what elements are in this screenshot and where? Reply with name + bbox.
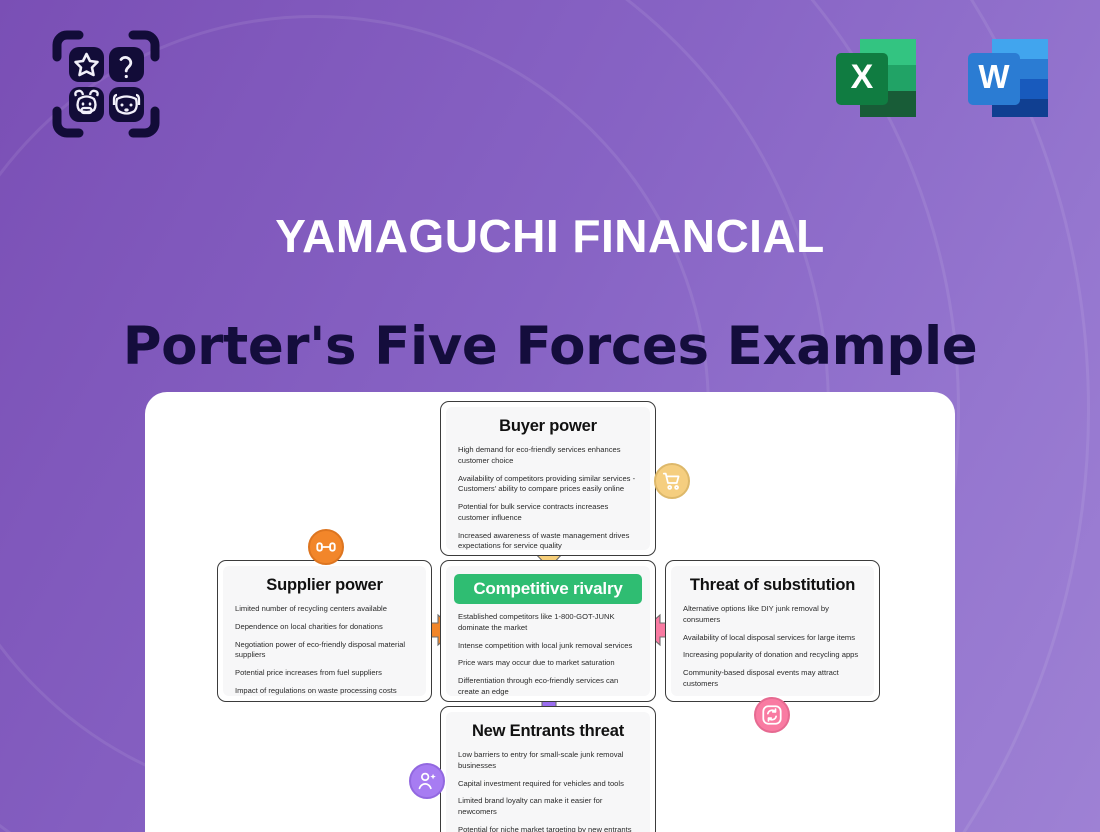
diagram-card: Buyer power High demand for eco-friendly… [145,392,955,832]
force-title-entrants: New Entrants threat [458,722,638,741]
office-app-icons: X W [828,30,1056,126]
list-item: High demand for eco-friendly services en… [458,445,638,467]
add-user-icon [416,770,438,792]
force-box-entrants[interactable]: New Entrants threat Low barriers to entr… [440,706,656,832]
svg-text:W: W [978,58,1010,95]
force-box-buyer[interactable]: Buyer power High demand for eco-friendly… [440,401,656,556]
force-items-rivalry: Established competitors like 1-800-GOT-J… [458,612,638,696]
list-item: Impact of regulations on waste processin… [235,686,414,696]
word-icon[interactable]: W [960,30,1056,126]
buyer-badge[interactable] [654,463,690,499]
shopping-cart-icon [661,470,683,492]
force-items-buyer: High demand for eco-friendly services en… [458,445,638,550]
star-tile [69,47,104,82]
entrants-badge[interactable] [409,763,445,799]
dumbbell-icon [315,536,337,558]
page-title: Porter's Five Forces Example [0,316,1100,377]
supplier-badge[interactable] [308,529,344,565]
list-item: Negotiation power of eco-friendly dispos… [235,640,414,662]
list-item: Availability of competitors providing si… [458,474,638,496]
force-title-supplier: Supplier power [235,576,414,595]
list-item: Limited brand loyalty can make it easier… [458,796,638,818]
list-item: Low barriers to entry for small-scale ju… [458,750,638,772]
force-box-substitution[interactable]: Threat of substitution Alternative optio… [665,560,880,702]
list-item: Potential price increases from fuel supp… [235,668,414,679]
list-item: Potential for bulk service contracts inc… [458,502,638,524]
force-items-substitution: Alternative options like DIY junk remova… [683,604,862,696]
list-item: Community-based disposal events may attr… [683,668,862,690]
list-item: Limited number of recycling centers avai… [235,604,414,615]
list-item: Increasing popularity of donation and re… [683,650,862,661]
list-item: Dependence on local charities for donati… [235,622,414,633]
list-item: Capital investment required for vehicles… [458,779,638,790]
list-item: Established competitors like 1-800-GOT-J… [458,612,638,634]
force-box-rivalry[interactable]: Competitive rivalry Established competit… [440,560,656,702]
list-item: Availability of local disposal services … [683,633,862,644]
force-items-entrants: Low barriers to entry for small-scale ju… [458,750,638,832]
list-item: Increased awareness of waste management … [458,531,638,550]
brand-title: YAMAGUCHI FINANCIAL [0,209,1100,263]
force-box-supplier[interactable]: Supplier power Limited number of recycli… [217,560,432,702]
quiz-frame-logo[interactable] [47,25,165,143]
force-items-supplier: Limited number of recycling centers avai… [235,604,414,696]
force-title-rivalry: Competitive rivalry [454,574,642,604]
excel-icon[interactable]: X [828,30,924,126]
five-forces-diagram: Buyer power High demand for eco-friendly… [145,392,955,832]
refresh-icon [761,704,783,726]
svg-text:X: X [851,58,874,96]
substitution-badge[interactable] [754,697,790,733]
force-title-substitution: Threat of substitution [683,576,862,595]
force-title-buyer: Buyer power [458,417,638,436]
list-item: Potential for niche market targeting by … [458,825,638,832]
list-item: Intense competition with local junk remo… [458,641,638,652]
list-item: Price wars may occur due to market satur… [458,658,638,669]
list-item: Differentiation through eco-friendly ser… [458,676,638,696]
list-item: Alternative options like DIY junk remova… [683,604,862,626]
cow-tile [69,87,104,122]
